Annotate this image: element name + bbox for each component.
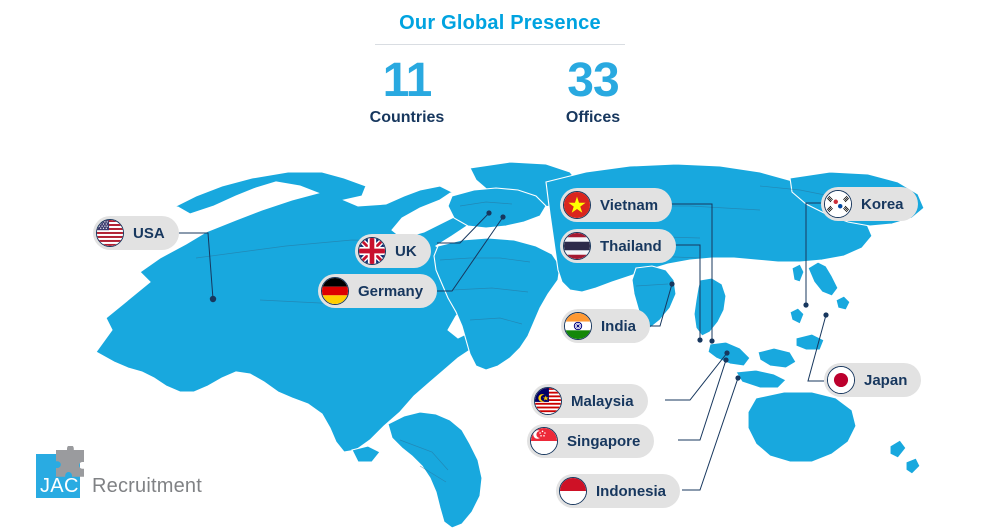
location-pill-singapore[interactable]: Singapore — [527, 424, 654, 458]
title-divider — [375, 44, 625, 45]
dot-usa — [210, 296, 216, 302]
dot-germany — [500, 214, 505, 219]
location-pill-korea[interactable]: Korea — [821, 187, 918, 221]
location-pill-thailand[interactable]: Thailand — [560, 229, 676, 263]
location-label-germany: Germany — [358, 283, 423, 300]
location-label-japan: Japan — [864, 372, 907, 389]
flag-singapore-icon — [530, 427, 558, 455]
location-pill-india[interactable]: India — [561, 309, 650, 343]
location-label-india: India — [601, 318, 636, 335]
dot-singapore — [723, 357, 728, 362]
dot-uk — [486, 210, 491, 215]
location-pill-usa[interactable]: USA — [93, 216, 179, 250]
flag-malaysia-icon — [534, 387, 562, 415]
location-label-vietnam: Vietnam — [600, 197, 658, 214]
flag-vietnam-icon — [563, 191, 591, 219]
location-label-malaysia: Malaysia — [571, 393, 634, 410]
location-pill-vietnam[interactable]: Vietnam — [560, 188, 672, 222]
dot-vietnam — [709, 338, 714, 343]
infographic-canvas: Our Global Presence 11 Countries 33 Offi… — [0, 0, 1000, 529]
location-pill-uk[interactable]: UK — [355, 234, 431, 268]
logo-jac-text: JAC — [40, 476, 79, 496]
location-label-uk: UK — [395, 243, 417, 260]
flag-thailand-icon — [563, 232, 591, 260]
location-label-korea: Korea — [861, 196, 904, 213]
location-pill-malaysia[interactable]: Malaysia — [531, 384, 648, 418]
location-pill-indonesia[interactable]: Indonesia — [556, 474, 680, 508]
location-pill-germany[interactable]: Germany — [318, 274, 437, 308]
dot-india — [669, 281, 674, 286]
stat-offices: 33 Offices — [528, 55, 658, 127]
dot-indonesia — [735, 375, 740, 380]
location-label-singapore: Singapore — [567, 433, 640, 450]
flag-japan-icon — [827, 366, 855, 394]
page-title: Our Global Presence — [0, 12, 1000, 35]
stats-row: 11 Countries 33 Offices — [0, 55, 1000, 127]
dot-malaysia — [724, 350, 729, 355]
flag-indonesia-icon — [559, 477, 587, 505]
jac-recruitment-logo: JAC Recruitment — [36, 446, 202, 498]
stat-countries: 11 Countries — [342, 55, 472, 127]
stat-offices-number: 33 — [528, 55, 658, 107]
dot-korea — [803, 302, 808, 307]
location-label-thailand: Thailand — [600, 238, 662, 255]
dot-japan — [823, 312, 828, 317]
stat-countries-number: 11 — [342, 55, 472, 107]
connector-indonesia — [682, 378, 738, 490]
flag-germany-icon — [321, 277, 349, 305]
flag-korea-icon — [824, 190, 852, 218]
flag-india-icon — [564, 312, 592, 340]
header: Our Global Presence — [0, 12, 1000, 45]
jac-logo-mark: JAC — [36, 446, 88, 498]
flag-usa-icon — [96, 219, 124, 247]
map-landmasses — [96, 162, 924, 528]
stat-offices-label: Offices — [528, 109, 658, 127]
location-pill-japan[interactable]: Japan — [824, 363, 921, 397]
location-label-usa: USA — [133, 225, 165, 242]
stat-countries-label: Countries — [342, 109, 472, 127]
logo-recruitment-text: Recruitment — [92, 476, 202, 496]
location-label-indonesia: Indonesia — [596, 483, 666, 500]
dot-thailand — [697, 337, 702, 342]
connector-malaysia — [665, 353, 727, 400]
flag-uk-icon — [358, 237, 386, 265]
